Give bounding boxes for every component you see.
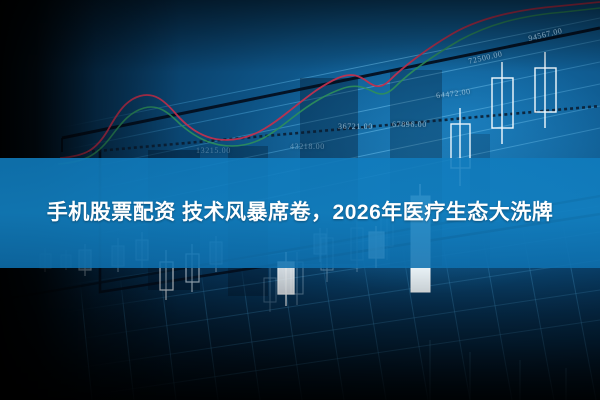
price-label-13215: 13215.00: [196, 146, 231, 155]
stock-banner-image: 94567.00 72500.00 64472.00 67896.00 3672…: [0, 0, 600, 400]
page-title: 手机股票配资 技术风暴席卷，2026年医疗生态大洗牌: [0, 158, 600, 268]
price-label-43218: 43218.00: [290, 142, 325, 151]
price-label-36721: 36721.00: [338, 122, 373, 131]
price-label-67896: 67896.00: [392, 120, 427, 129]
